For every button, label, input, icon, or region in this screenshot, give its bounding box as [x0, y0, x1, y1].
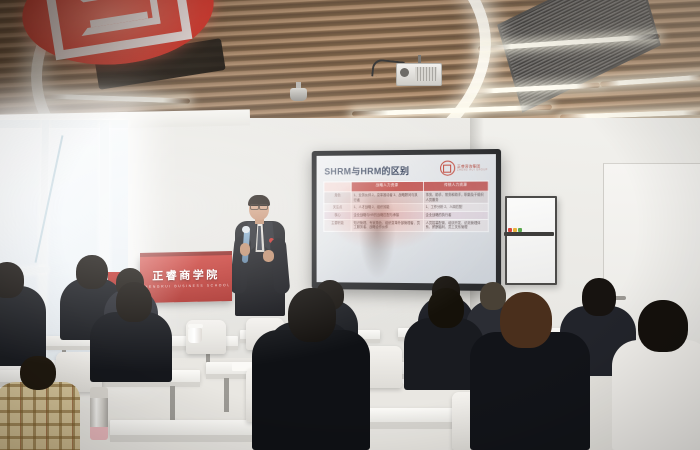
ceiling-spotlight — [290, 88, 307, 101]
row-label: 关注点 — [324, 204, 351, 212]
table-corner-cell — [324, 182, 351, 192]
slide-surface: SHRM与HRM的区别 正睿咨询集团 ZHENG RUI GROUP 战略人力资… — [317, 154, 496, 284]
presentation-display[interactable]: SHRM与HRM的区别 正睿咨询集团 ZHENG RUI GROUP 战略人力资… — [312, 149, 501, 291]
audience-head — [582, 278, 616, 316]
audience-head — [20, 356, 56, 390]
ceiling-shadow-left — [0, 0, 330, 128]
projector-lens-icon — [400, 68, 409, 77]
audience-shoulders — [90, 312, 172, 382]
audience-head — [76, 255, 108, 289]
table-header-traditional: 传统人力资源 — [423, 181, 488, 191]
audience-head — [288, 288, 336, 342]
slide-title: SHRM与HRM的区别 — [324, 164, 409, 178]
school-banner: 正睿商学院 ZHENGRUI BUSINESS SCHOOL — [140, 255, 232, 303]
slide-comparison-table: 战略人力资源 传统人力资源 角色 1、业务伙伴 2、变革推动者 3、战略顾问与执… — [323, 180, 488, 232]
row-traditional: 企业战略的执行者 — [423, 211, 488, 219]
brand-seal-icon — [440, 161, 455, 176]
projector-vent — [415, 67, 437, 81]
wood-slat-ceiling — [0, 0, 700, 128]
table-row: 主要职能 知识管理、专家角色、组织变革外部管理者、员工服务者、战略合作伙伴 人员… — [324, 219, 488, 231]
table-leg — [224, 378, 229, 412]
row-strategic: 知识管理、专家角色、组织变革外部管理者、员工服务者、战略合作伙伴 — [351, 219, 423, 231]
banner-title: 正睿商学院 — [140, 266, 232, 284]
marker-yellow[interactable] — [513, 228, 517, 232]
row-label: 角色 — [324, 192, 351, 204]
mug[interactable] — [188, 328, 202, 343]
row-label: 核心 — [324, 211, 351, 219]
table-header-strategic: 战略人力资源 — [351, 181, 423, 191]
thermos-base — [90, 427, 108, 440]
audience-shoulders-white-shirt — [612, 340, 700, 450]
thermos-cap — [90, 387, 108, 398]
slide-brand-logo: 正睿咨询集团 ZHENG RUI GROUP — [440, 160, 488, 176]
banner-subtitle: ZHENGRUI BUSINESS SCHOOL — [140, 283, 232, 289]
audience-shoulders — [470, 332, 590, 450]
marker-green[interactable] — [518, 228, 522, 232]
audience-head — [428, 288, 464, 328]
audience-head-long-hair — [500, 292, 552, 348]
table-row: 核心 企业战略与HR的战略匹配与承接 企业战略的执行者 — [324, 211, 488, 219]
row-strategic: 1、人才战略 2、组织效能 — [351, 204, 423, 212]
row-traditional: 事务、助手、常务和助手，职能及于组织人员服务 — [423, 191, 488, 204]
slide-logo-subtext: ZHENG RUI GROUP — [457, 169, 488, 172]
marker-red[interactable] — [508, 228, 512, 232]
audience-head — [638, 300, 688, 352]
table-header-row: 战略人力资源 传统人力资源 — [324, 181, 488, 192]
microphone-head-icon — [242, 226, 250, 233]
window-open-sash[interactable] — [35, 135, 64, 263]
row-label: 主要职能 — [324, 219, 351, 231]
table-leg — [170, 386, 175, 420]
row-strategic: 1、业务伙伴 2、变革推动者 3、战略顾问与执行者 — [351, 191, 423, 203]
presenter-hand-left — [240, 243, 250, 256]
ceiling-projector — [396, 63, 442, 86]
audience-shoulders — [0, 286, 46, 366]
row-traditional: 人员招募配置、培训开发、绩效管理体系、薪酬福利、员工关系管理 — [423, 219, 488, 231]
table-row: 角色 1、业务伙伴 2、变革推动者 3、战略顾问与执行者 事务、助手、常务和助手… — [324, 191, 488, 204]
glasses-icon — [250, 204, 268, 208]
row-traditional: 1、工作分析 2、人岗匹配 — [423, 204, 488, 212]
presenter-hand-right — [263, 250, 274, 262]
classroom-photo: SHRM与HRM的区别 正睿咨询集团 ZHENG RUI GROUP 战略人力资… — [0, 0, 700, 450]
whiteboard[interactable] — [505, 196, 557, 285]
audience-head — [116, 282, 152, 322]
audience-plaid-jacket — [0, 382, 80, 450]
row-strategic: 企业战略与HR的战略匹配与承接 — [351, 211, 423, 219]
mug-lid — [188, 324, 203, 328]
whiteboard-marker-tray — [504, 232, 554, 236]
table-row: 关注点 1、人才战略 2、组织效能 1、工作分析 2、人岗匹配 — [324, 204, 488, 212]
audience-shoulders — [252, 330, 370, 450]
